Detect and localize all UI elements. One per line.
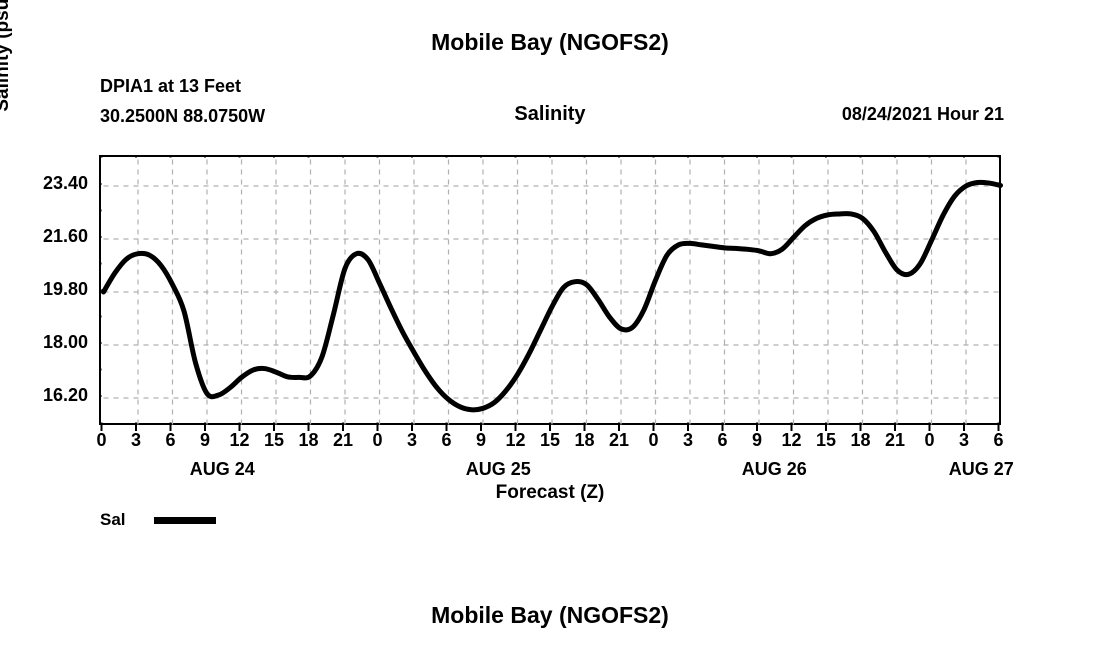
y-axis-tick-label: 19.80 — [0, 279, 88, 300]
x-axis-day-label: AUG 27 — [901, 459, 1061, 480]
y-axis-tick-label: 18.00 — [0, 332, 88, 353]
chart-legend: Sal — [100, 510, 216, 530]
y-axis-tick-label: 21.60 — [0, 226, 88, 247]
x-axis-day-label: AUG 24 — [142, 459, 302, 480]
x-axis-day-label: AUG 26 — [694, 459, 854, 480]
y-axis-title: Salinity (psu) — [0, 0, 14, 182]
x-axis-day-label: AUG 25 — [418, 459, 578, 480]
data-series-group — [104, 182, 1001, 410]
plot-area — [99, 155, 1001, 425]
x-axis-tick-label: 6 — [979, 430, 1019, 451]
chart-canvas — [101, 157, 1003, 427]
station-label: DPIA1 at 13 Feet — [100, 76, 241, 97]
legend-line-swatch — [154, 517, 216, 524]
chart-page: Mobile Bay (NGOFS2) DPIA1 at 13 Feet 30.… — [0, 0, 1100, 650]
forecast-timestamp: 08/24/2021 Hour 21 — [842, 104, 1004, 125]
page-title-top: Mobile Bay (NGOFS2) — [0, 29, 1100, 56]
y-axis-tick-label: 23.40 — [0, 173, 88, 194]
page-title-bottom: Mobile Bay (NGOFS2) — [0, 602, 1100, 629]
legend-label-sal: Sal — [100, 510, 154, 530]
vertical-gridlines — [138, 160, 966, 425]
y-axis-tick-label: 16.20 — [0, 385, 88, 406]
x-axis-title: Forecast (Z) — [0, 482, 1100, 504]
